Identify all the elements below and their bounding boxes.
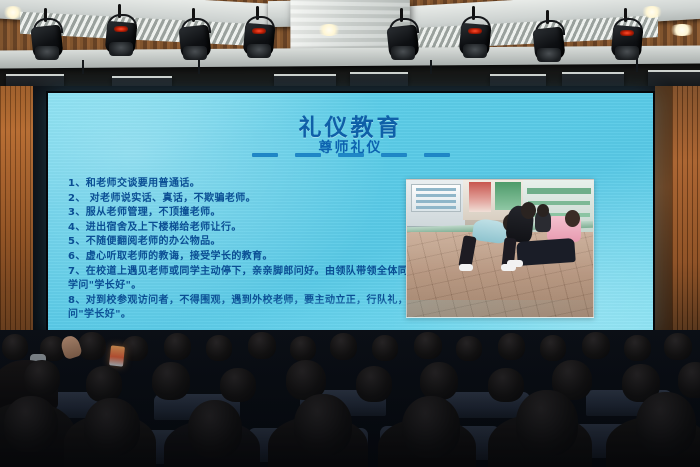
- wall-panel-right: [672, 86, 700, 338]
- audience-head: [498, 333, 525, 360]
- audience-head: [290, 336, 316, 361]
- downlight-icon: [640, 6, 664, 18]
- audience-head: [24, 360, 60, 396]
- slide-divider: [48, 153, 653, 157]
- slide-body-text: 1、和老师交谈要用普通话。 2、 对老师说实话、真话，不欺骗老师。 3、服从老师…: [68, 177, 418, 323]
- auditorium-photo: 礼仪教育 尊师礼仪 1、和老师交谈要用普通话。 2、 对老师说实话、真话，不欺骗…: [0, 0, 700, 467]
- audience-head: [420, 362, 458, 400]
- audience-head: [356, 366, 392, 402]
- slide-line: 4、进出宿舍及上下楼梯给老师让行。: [68, 221, 418, 236]
- audience-head: [624, 335, 651, 361]
- slide-line: 5、不随便翻阅老师的办公物品。: [68, 235, 418, 250]
- audience-head: [456, 336, 482, 361]
- wall-panel-left: [0, 86, 33, 338]
- audience-head: [372, 335, 398, 361]
- audience-head: [664, 333, 692, 360]
- slide-line: 6、虚心听取老师的教诲，接受学长的教育。: [68, 250, 418, 265]
- audience-head: [678, 362, 700, 398]
- audience-head: [4, 396, 58, 452]
- audience-head: [164, 333, 191, 360]
- downlight-icon: [668, 24, 696, 36]
- audience-head: [122, 336, 148, 361]
- audience-head: [582, 332, 610, 359]
- phone-screen: [109, 345, 125, 366]
- audience: [0, 330, 700, 467]
- audience-head: [78, 332, 106, 360]
- audience-head: [84, 398, 140, 456]
- audience-head: [540, 335, 566, 361]
- downlight-icon: [2, 6, 24, 19]
- audience-head: [488, 368, 524, 402]
- audience-head: [414, 332, 442, 359]
- slide-line: 3、服从老师管理，不顶撞老师。: [68, 206, 418, 221]
- audience-head: [330, 333, 357, 360]
- slide-line: 8、对到校参观访问者，不得围观，遇到外校老师，要主动立正，行队礼，问"学长好"。: [68, 294, 418, 323]
- ceiling-beam: [0, 45, 700, 68]
- audience-head: [86, 366, 122, 402]
- slide-line: 1、和老师交谈要用普通话。: [68, 177, 418, 192]
- ceiling: [0, 0, 700, 88]
- projection-screen: 礼仪教育 尊师礼仪 1、和老师交谈要用普通话。 2、 对老师说实话、真话，不欺骗…: [48, 93, 653, 333]
- audience-head: [152, 362, 190, 400]
- audience-head: [220, 368, 256, 402]
- slide-photo: [406, 179, 594, 318]
- audience-head: [206, 335, 232, 361]
- audience-head: [294, 394, 352, 456]
- audience-head: [516, 390, 578, 456]
- audience-head: [188, 400, 242, 458]
- slide-line: 2、 对老师说实话、真话，不欺骗老师。: [68, 192, 418, 207]
- audience-head: [248, 332, 276, 359]
- audience-head: [402, 396, 460, 458]
- downlight-icon: [316, 24, 342, 36]
- audience-head: [2, 334, 28, 360]
- audience-head: [636, 392, 696, 456]
- slide-line: 7、在校道上遇见老师或同学主动停下，亲亲脚郎问好。由领队带领全体同学问"学长好"…: [68, 265, 418, 294]
